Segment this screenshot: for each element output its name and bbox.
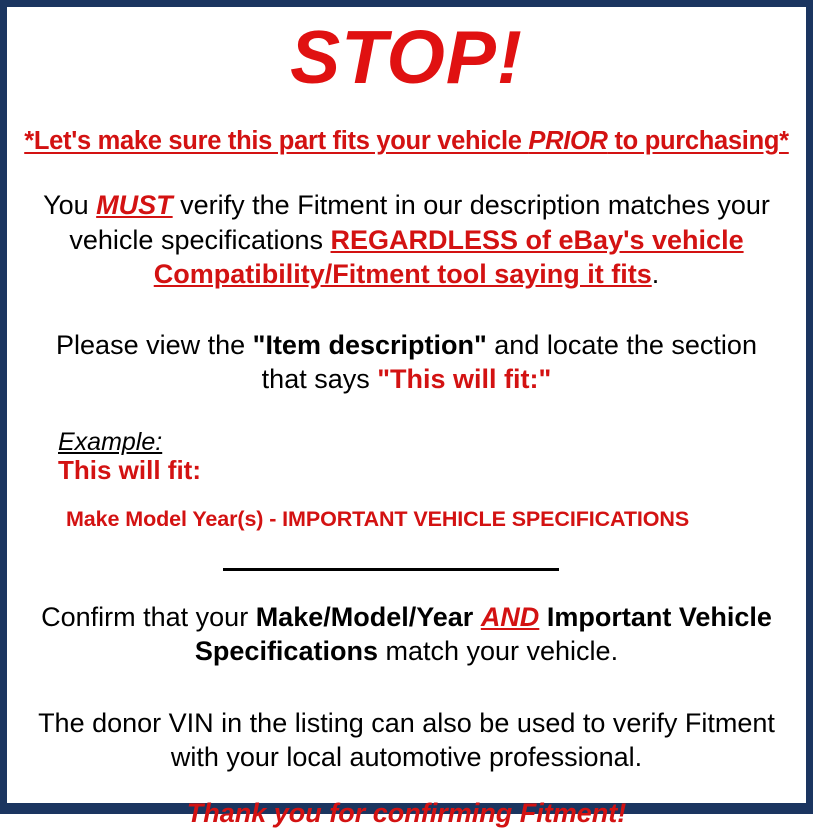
example-spec-line: Make Model Year(s) - IMPORTANT VEHICLE S… <box>58 508 800 532</box>
confirm-text-1: Confirm that your <box>41 602 256 632</box>
confirm-space-2 <box>539 602 547 632</box>
example-will-fit-heading: This will fit: <box>58 456 800 486</box>
paragraph-item-description: Please view the "Item description" and l… <box>13 328 800 397</box>
subtitle-text-before: *Let's make sure this part fits your veh… <box>24 127 528 155</box>
item-description-label: "Item description" <box>253 330 487 360</box>
subtitle-emphasis-prior: PRIOR <box>528 127 607 155</box>
example-label: Example: <box>58 429 162 455</box>
make-model-year-label: Make/Model/Year <box>256 602 474 632</box>
paragraph-donor-vin: The donor VIN in the listing can also be… <box>13 706 800 775</box>
notice-content: STOP! *Let's make sure this part fits yo… <box>7 20 806 816</box>
example-label-row: Example: <box>58 429 800 455</box>
page-title: STOP! <box>13 20 800 95</box>
itemdesc-text-1: Please view the <box>56 330 253 360</box>
confirm-space-1 <box>473 602 481 632</box>
divider-wrap <box>13 558 800 568</box>
must-text-period: . <box>652 259 660 289</box>
subtitle-text-after: to purchasing* <box>608 127 789 155</box>
this-will-fit-label: "This will fit:" <box>377 364 551 394</box>
subtitle-banner: *Let's make sure this part fits your veh… <box>13 127 800 155</box>
must-text-1: You <box>43 190 96 220</box>
confirm-text-tail: match your vehicle. <box>378 636 618 666</box>
horizontal-divider <box>223 568 559 571</box>
and-emphasis: AND <box>481 602 540 632</box>
closing-thanks: Thank you for confirming Fitment! <box>13 799 800 828</box>
must-emphasis: MUST <box>96 190 173 220</box>
paragraph-confirm: Confirm that your Make/Model/Year AND Im… <box>13 600 800 669</box>
paragraph-must-verify: You MUST verify the Fitment in our descr… <box>13 188 800 292</box>
fitment-notice-card: STOP! *Let's make sure this part fits yo… <box>0 0 813 814</box>
example-block: Example: This will fit: Make Model Year(… <box>13 429 800 532</box>
